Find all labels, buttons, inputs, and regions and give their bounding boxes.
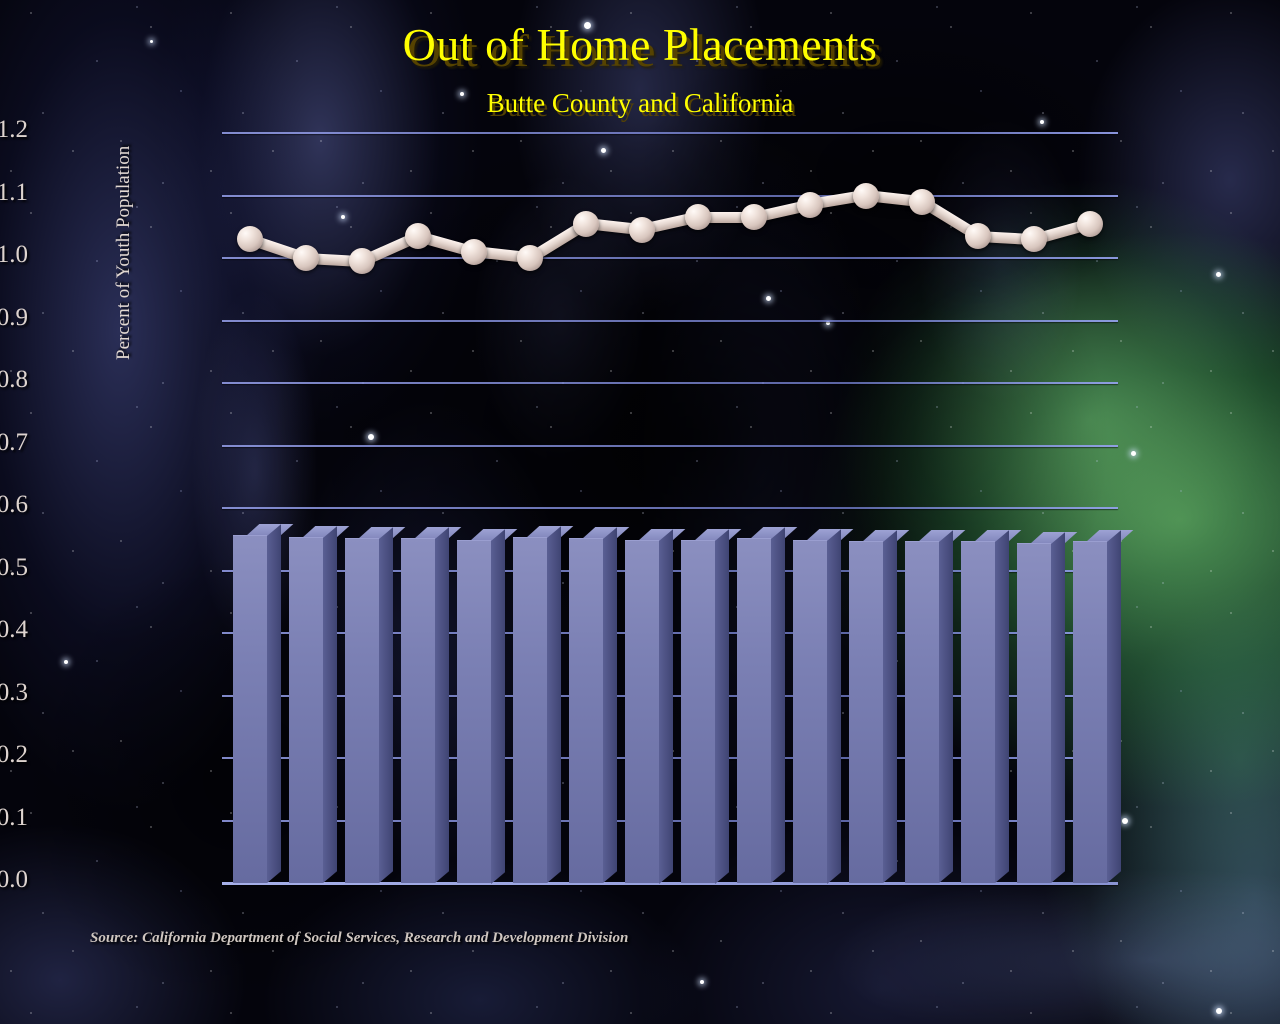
- y-axis-tick-label: 0.0: [0, 866, 28, 894]
- gridline: [222, 132, 1118, 134]
- star: [1216, 1008, 1222, 1014]
- bar-front-face: [569, 538, 603, 883]
- bar-front-face: [513, 537, 547, 883]
- slide-title: Out of Home Placements: [0, 18, 1280, 71]
- bar-front-face: [1073, 541, 1107, 883]
- bar: [625, 528, 659, 884]
- y-axis-tick-label: 1.2: [0, 116, 28, 144]
- bar: [681, 528, 715, 884]
- bar-front-face: [681, 540, 715, 884]
- gridline: [222, 320, 1118, 322]
- bar-front-face: [457, 540, 491, 884]
- data-point-marker: [853, 183, 879, 209]
- data-point-marker: [629, 217, 655, 243]
- y-axis-tick-label: 1.1: [0, 179, 28, 207]
- bar-front-face: [905, 541, 939, 883]
- bar-side-face: [659, 529, 673, 883]
- bar: [1017, 531, 1051, 883]
- y-axis-tick-label: 1.0: [0, 241, 28, 269]
- bar-side-face: [267, 524, 281, 883]
- y-axis-title: Percent of Youth Population: [113, 60, 135, 360]
- bar-side-face: [771, 528, 785, 883]
- bar: [513, 525, 547, 883]
- bar: [457, 528, 491, 884]
- y-axis-tick-label: 0.9: [0, 304, 28, 332]
- bar-side-face: [883, 531, 897, 883]
- star: [64, 660, 68, 664]
- bar: [1073, 529, 1107, 883]
- y-axis-tick-label: 0.8: [0, 366, 28, 394]
- y-axis-tick-label: 0.5: [0, 554, 28, 582]
- bar-side-face: [547, 526, 561, 883]
- gridline: [222, 382, 1118, 384]
- y-axis-tick-label: 0.1: [0, 804, 28, 832]
- bar-front-face: [233, 535, 267, 883]
- bar: [849, 529, 883, 883]
- data-point-marker: [293, 245, 319, 271]
- y-axis-tick-label: 0.4: [0, 616, 28, 644]
- bar: [905, 529, 939, 883]
- data-point-marker: [405, 223, 431, 249]
- data-point-marker: [517, 245, 543, 271]
- star: [1131, 451, 1136, 456]
- gridline: [222, 195, 1118, 197]
- star: [1040, 120, 1044, 124]
- y-axis-tick-label: 0.3: [0, 679, 28, 707]
- slide-canvas: Out of Home Placements Butte County and …: [0, 0, 1280, 1024]
- bar-front-face: [849, 541, 883, 883]
- star: [1216, 272, 1221, 277]
- data-point-marker: [461, 239, 487, 265]
- bar-front-face: [961, 541, 995, 883]
- bar-front-face: [1017, 543, 1051, 883]
- data-point-marker: [741, 204, 767, 230]
- bar-side-face: [1107, 531, 1121, 883]
- bar-front-face: [345, 538, 379, 883]
- gridline: [222, 507, 1118, 509]
- data-point-marker: [573, 211, 599, 237]
- plot-area: 1.21.11.00.90.80.70.60.50.40.30.20.10.0 …: [222, 133, 1118, 883]
- bar-side-face: [939, 531, 953, 883]
- data-point-marker: [965, 223, 991, 249]
- bar: [289, 525, 323, 883]
- bar-side-face: [435, 528, 449, 883]
- data-point-marker: [797, 192, 823, 218]
- y-axis-tick-label: 0.6: [0, 491, 28, 519]
- bar-side-face: [715, 529, 729, 883]
- bar-front-face: [401, 538, 435, 883]
- bar-front-face: [737, 538, 771, 883]
- bar: [345, 526, 379, 883]
- data-point-marker: [349, 248, 375, 274]
- bar: [961, 529, 995, 883]
- star: [1122, 818, 1128, 824]
- bar-side-face: [323, 526, 337, 883]
- y-axis-tick-label: 0.7: [0, 429, 28, 457]
- bar-front-face: [793, 540, 827, 884]
- bar-side-face: [491, 529, 505, 883]
- bar-front-face: [289, 537, 323, 883]
- bar: [737, 526, 771, 883]
- source-note: Source: California Department of Social …: [90, 930, 628, 947]
- bar: [233, 523, 267, 883]
- slide-subtitle: Butte County and California: [0, 88, 1280, 119]
- bar: [401, 526, 435, 883]
- bar: [793, 528, 827, 884]
- bar-side-face: [379, 528, 393, 883]
- bar-side-face: [1051, 533, 1065, 883]
- y-axis-tick-label: 0.2: [0, 741, 28, 769]
- bar-side-face: [603, 528, 617, 883]
- data-point-marker: [909, 189, 935, 215]
- star: [700, 980, 704, 984]
- bar-side-face: [827, 529, 841, 883]
- gridline: [222, 445, 1118, 447]
- bar-side-face: [995, 531, 1009, 883]
- bar: [569, 526, 603, 883]
- data-point-marker: [1021, 226, 1047, 252]
- bar-front-face: [625, 540, 659, 884]
- data-point-marker: [685, 204, 711, 230]
- data-point-marker: [1077, 211, 1103, 237]
